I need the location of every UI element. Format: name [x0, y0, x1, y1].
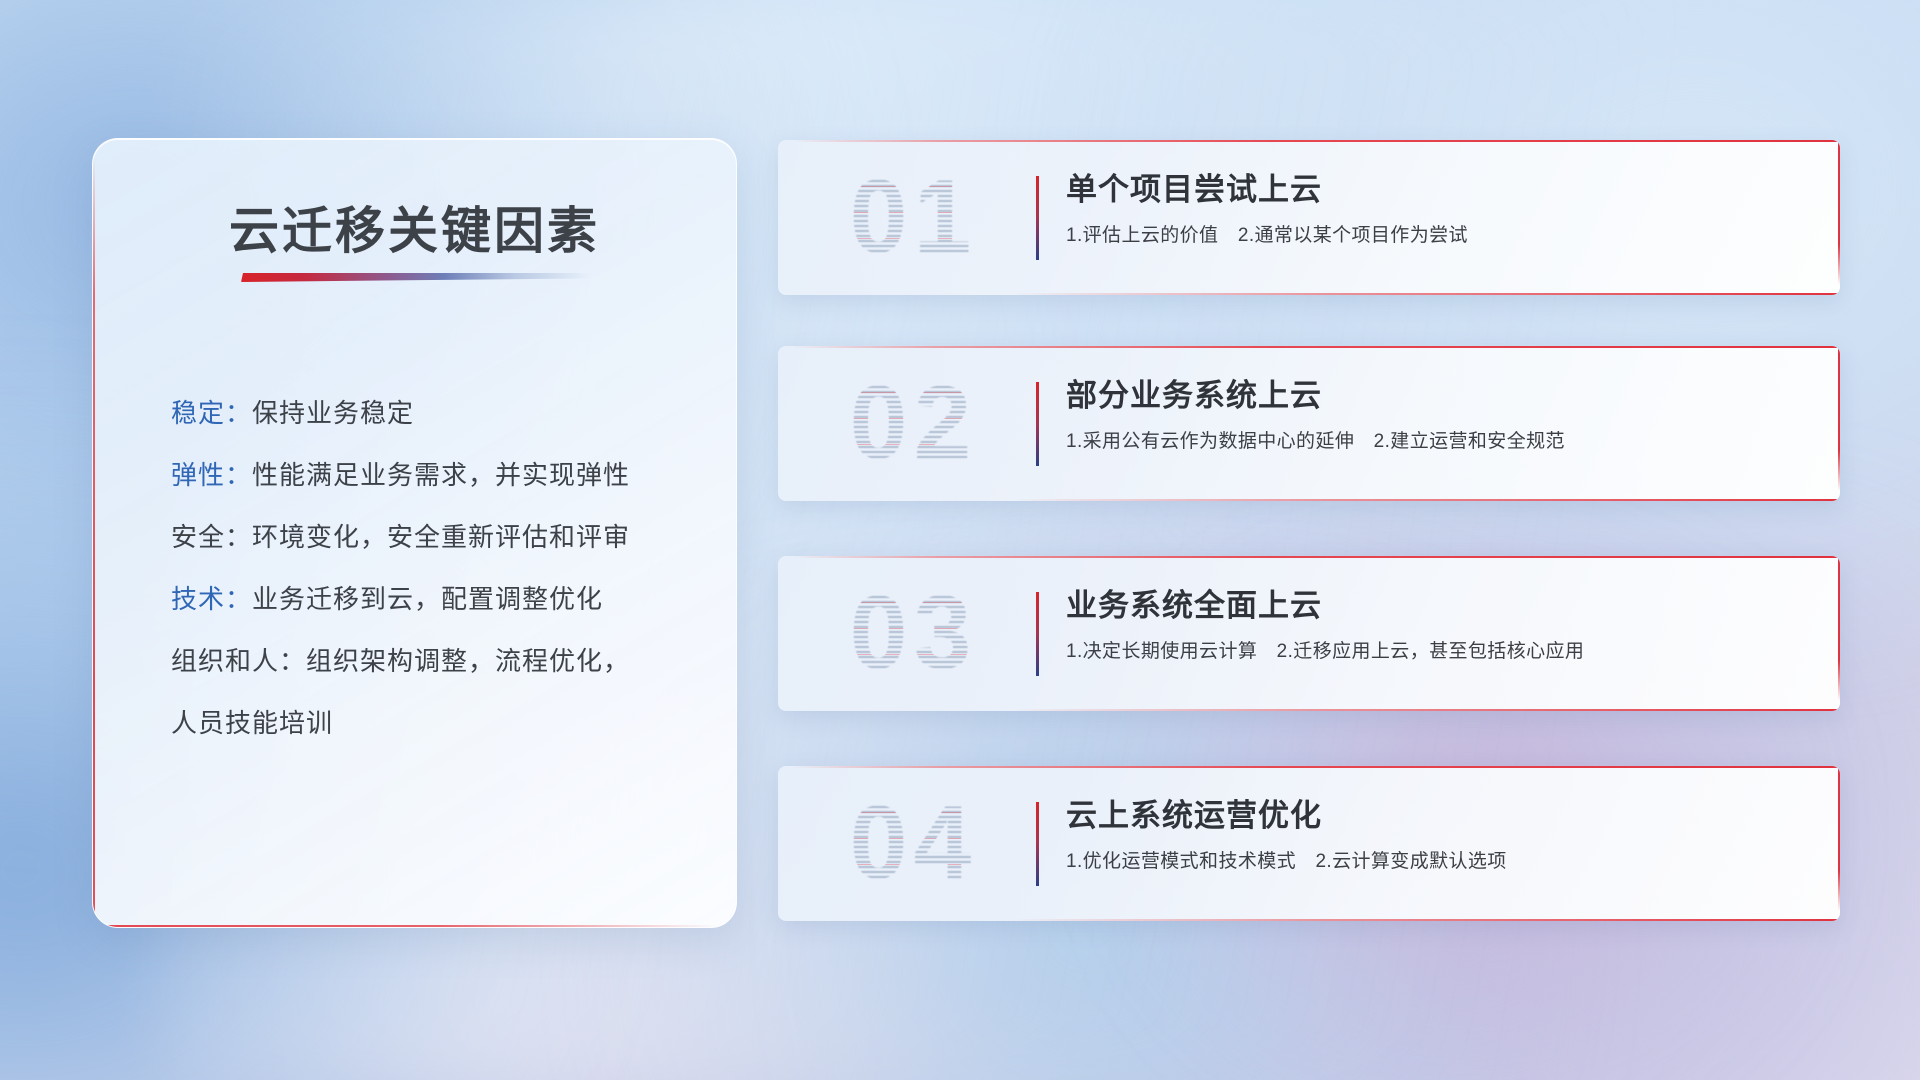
step-description: 1.评估上云的价值 2.通常以某个项目作为尝试: [1066, 222, 1800, 250]
step-text-block: 云上系统运营优化 1.优化运营模式和技术模式 2.云计算变成默认选项: [1066, 794, 1800, 876]
step-accent-bar: [1036, 382, 1039, 466]
factor-value: 性能满足业务需求，并实现弹性: [252, 460, 630, 490]
step-accent-bar: [1036, 176, 1039, 260]
step-number-watermark-tint: 03: [816, 576, 1011, 691]
step-card-01[interactable]: 01 01 单个项目尝试上云 1.评估上云的价值 2.通常以某个项目作为尝试: [778, 140, 1840, 295]
step-accent-bar: [1036, 592, 1039, 676]
card-bottom-accent-line: [1012, 499, 1840, 501]
factor-value: 保持业务稳定: [252, 398, 414, 428]
list-item: 弹性：性能满足业务需求，并实现弹性: [171, 444, 700, 506]
card-bottom-accent-line: [1012, 919, 1840, 921]
step-accent-bar: [1036, 802, 1039, 886]
step-number-watermark-tint: 01: [816, 160, 1011, 275]
factor-label: 弹性：: [171, 460, 252, 490]
step-title: 单个项目尝试上云: [1066, 168, 1800, 212]
step-card-04[interactable]: 04 04 云上系统运营优化 1.优化运营模式和技术模式 2.云计算变成默认选项: [778, 766, 1840, 921]
list-item: 安全：环境变化，安全重新评估和评审: [171, 506, 700, 568]
card-top-accent-line: [792, 140, 1840, 142]
key-factor-list: 稳定：保持业务稳定 弹性：性能满足业务需求，并实现弹性 安全：环境变化，安全重新…: [171, 382, 700, 754]
factor-value: 人员技能培训: [171, 708, 333, 738]
list-item: 组织和人：组织架构调整，流程优化，: [171, 630, 700, 692]
panel-left-accent-line: [93, 157, 95, 925]
card-top-accent-line: [792, 556, 1840, 558]
card-bottom-accent-line: [1012, 709, 1840, 711]
factor-value: 组织架构调整，流程优化，: [306, 646, 630, 676]
card-right-accent-line: [1838, 346, 1840, 491]
step-number-watermark-tint: 04: [816, 786, 1011, 901]
factor-value: 业务迁移到云，配置调整优化: [252, 584, 603, 614]
factor-label: 组织和人：: [171, 646, 306, 676]
step-text-block: 部分业务系统上云 1.采用公有云作为数据中心的延伸 2.建立运营和安全规范: [1066, 374, 1800, 456]
card-top-accent-line: [792, 766, 1840, 768]
step-description: 1.决定长期使用云计算 2.迁移应用上云，甚至包括核心应用: [1066, 638, 1800, 666]
card-right-accent-line: [1838, 766, 1840, 911]
factor-value: 环境变化，安全重新评估和评审: [252, 522, 630, 552]
panel-bottom-accent-line: [95, 925, 718, 927]
list-item: 稳定：保持业务稳定: [171, 382, 700, 444]
card-right-accent-line: [1838, 140, 1840, 285]
step-description: 1.采用公有云作为数据中心的延伸 2.建立运营和安全规范: [1066, 428, 1800, 456]
step-text-block: 单个项目尝试上云 1.评估上云的价值 2.通常以某个项目作为尝试: [1066, 168, 1800, 250]
card-right-accent-line: [1838, 556, 1840, 701]
card-bottom-accent-line: [1012, 293, 1840, 295]
step-title: 云上系统运营优化: [1066, 794, 1800, 838]
page-title: 云迁移关键因素: [93, 191, 736, 263]
card-top-accent-line: [792, 346, 1840, 348]
step-text-block: 业务系统全面上云 1.决定长期使用云计算 2.迁移应用上云，甚至包括核心应用: [1066, 584, 1800, 666]
step-description: 1.优化运营模式和技术模式 2.云计算变成默认选项: [1066, 848, 1800, 876]
list-item: 技术：业务迁移到云，配置调整优化: [171, 568, 700, 630]
title-underline-gradient: [241, 273, 591, 282]
factor-label: 稳定：: [171, 398, 252, 428]
factor-label: 技术：: [171, 584, 252, 614]
step-title: 业务系统全面上云: [1066, 584, 1800, 628]
step-card-02[interactable]: 02 02 部分业务系统上云 1.采用公有云作为数据中心的延伸 2.建立运营和安…: [778, 346, 1840, 501]
factor-label: 安全：: [171, 522, 252, 552]
step-number-watermark-tint: 02: [816, 366, 1011, 481]
key-factors-panel: 云迁移关键因素 稳定：保持业务稳定 弹性：性能满足业务需求，并实现弹性 安全：环…: [92, 138, 737, 928]
list-item: 人员技能培训: [171, 692, 700, 754]
step-title: 部分业务系统上云: [1066, 374, 1800, 418]
step-card-03[interactable]: 03 03 业务系统全面上云 1.决定长期使用云计算 2.迁移应用上云，甚至包括…: [778, 556, 1840, 711]
